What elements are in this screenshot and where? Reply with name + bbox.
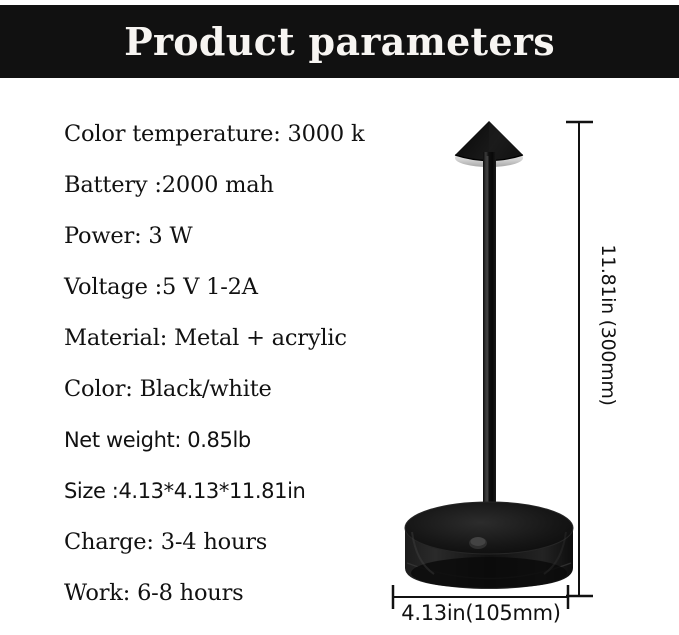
- spec-label: Battery :2000 mah: [64, 172, 274, 198]
- spec-row-charge-time: Charge: 3-4 hours: [64, 516, 394, 567]
- spec-row-work-time: Work: 6-8 hours: [64, 567, 394, 618]
- spec-row-battery: Battery :2000 mah: [64, 159, 394, 210]
- page-title: Product parameters: [0, 5, 679, 78]
- spec-label: Work: 6-8 hours: [64, 580, 243, 606]
- spec-row-color-temperature: Color temperature: 3000 k: [64, 108, 394, 159]
- lamp-illustration-svg: [390, 100, 590, 600]
- spec-label: Material: Metal + acrylic: [64, 325, 347, 351]
- spec-label: Power: 3 W: [64, 223, 192, 249]
- height-dimension-label: 11.81in (300mm): [597, 244, 619, 405]
- header-bar: Product parameters: [0, 5, 679, 78]
- width-dimension-label: 4.13in(105mm): [393, 601, 569, 625]
- spec-row-voltage: Voltage :5 V 1-2A: [64, 261, 394, 312]
- pole-highlight: [487, 156, 489, 528]
- spec-label: Net weight: 0.85lb: [64, 428, 251, 452]
- spec-label: Color temperature: 3000 k: [64, 121, 364, 147]
- base-shadow-band: [411, 557, 567, 589]
- spec-row-material: Material: Metal + acrylic: [64, 312, 394, 363]
- spec-label: Voltage :5 V 1-2A: [64, 274, 258, 300]
- spec-label: Color: Black/white: [64, 376, 272, 402]
- spec-label: Charge: 3-4 hours: [64, 529, 267, 555]
- product-parameters-infographic: Product parameters Color temperature: 30…: [0, 0, 679, 635]
- spec-row-color: Color: Black/white: [64, 363, 394, 414]
- spec-label: Size :4.13*4.13*11.81in: [64, 479, 305, 503]
- spec-list: Color temperature: 3000 k Battery :2000 …: [64, 108, 394, 618]
- spec-row-size: Size :4.13*4.13*11.81in: [64, 465, 394, 516]
- spec-row-net-weight: Net weight: 0.85lb: [64, 414, 394, 465]
- lamp-pole: [483, 152, 496, 532]
- spec-row-power: Power: 3 W: [64, 210, 394, 261]
- power-button-highlight: [471, 537, 486, 546]
- lamp-product-image: [390, 100, 590, 600]
